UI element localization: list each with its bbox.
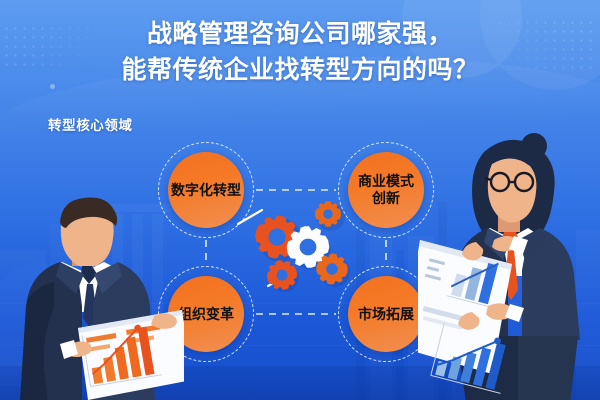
businesswoman-illustration (418, 130, 600, 400)
gears-icon (244, 196, 360, 304)
node-label-line-1: 组织变革 (178, 306, 234, 323)
headline: 战略管理咨询公司哪家强， 能帮传统企业找转型方向的吗？ (0, 16, 600, 88)
node-label-line-1: 市场拓展 (358, 306, 414, 323)
poster-canvas: 战略管理咨询公司哪家强， 能帮传统企业找转型方向的吗？ 转型核心领域 数字化转型 (0, 0, 600, 400)
headline-line-1: 战略管理咨询公司哪家强， (0, 16, 600, 52)
node-label-line-2: 创新 (358, 190, 414, 207)
headline-line-2: 能帮传统企业找转型方向的吗？ (0, 52, 600, 88)
node-label-line-1: 商业模式 (358, 173, 414, 190)
section-label: 转型核心领域 (48, 114, 133, 134)
businessman-illustration (0, 196, 184, 400)
gear-top-right (315, 201, 341, 227)
